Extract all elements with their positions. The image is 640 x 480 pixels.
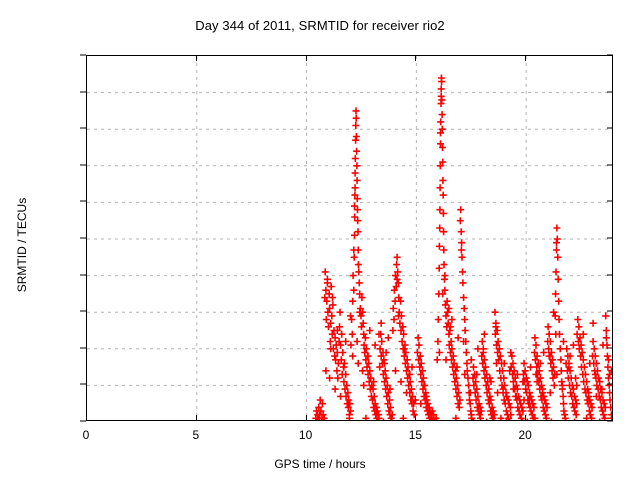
x-tick-label: 5: [192, 428, 199, 442]
chart-screenshot: Day 344 of 2011, SRMTID for receiver rio…: [0, 0, 640, 480]
y-tick-mark: [607, 274, 613, 275]
plot-area: [86, 55, 613, 421]
page-title: Day 344 of 2011, SRMTID for receiver rio…: [0, 18, 640, 33]
y-tick-mark: [607, 238, 613, 239]
y-tick-mark: [607, 164, 613, 165]
y-tick-mark: [80, 347, 86, 348]
y-tick-mark: [80, 238, 86, 239]
data-points: [312, 75, 613, 422]
y-tick-mark: [80, 274, 86, 275]
y-tick-mark: [607, 347, 613, 348]
x-tick-label: 10: [299, 428, 312, 442]
y-tick-mark: [607, 128, 613, 129]
x-tick-mark: [306, 55, 307, 61]
y-tick-mark: [80, 311, 86, 312]
x-tick-mark: [415, 55, 416, 61]
x-tick-mark: [415, 415, 416, 421]
y-tick-mark: [80, 164, 86, 165]
x-tick-mark: [196, 415, 197, 421]
y-tick-mark: [80, 128, 86, 129]
y-tick-mark: [80, 91, 86, 92]
x-tick-label: 15: [409, 428, 422, 442]
y-tick-mark: [607, 384, 613, 385]
horizontal-gridlines: [87, 93, 613, 386]
x-tick-label: 0: [83, 428, 90, 442]
x-axis-label: GPS time / hours: [0, 457, 640, 471]
y-tick-mark: [80, 201, 86, 202]
y-tick-mark: [607, 421, 613, 422]
x-tick-mark: [525, 55, 526, 61]
x-tick-mark: [86, 55, 87, 61]
y-tick-mark: [607, 91, 613, 92]
y-tick-mark: [80, 384, 86, 385]
y-tick-mark: [607, 201, 613, 202]
y-axis-label: SRMTID / TECUs: [15, 145, 29, 345]
scatter-layer: [87, 56, 613, 421]
x-tick-mark: [525, 415, 526, 421]
y-tick-mark: [607, 55, 613, 56]
x-tick-mark: [86, 415, 87, 421]
x-tick-label: 20: [518, 428, 531, 442]
x-tick-mark: [306, 415, 307, 421]
series-srmtid: [312, 75, 613, 422]
x-tick-mark: [196, 55, 197, 61]
y-tick-mark: [607, 311, 613, 312]
